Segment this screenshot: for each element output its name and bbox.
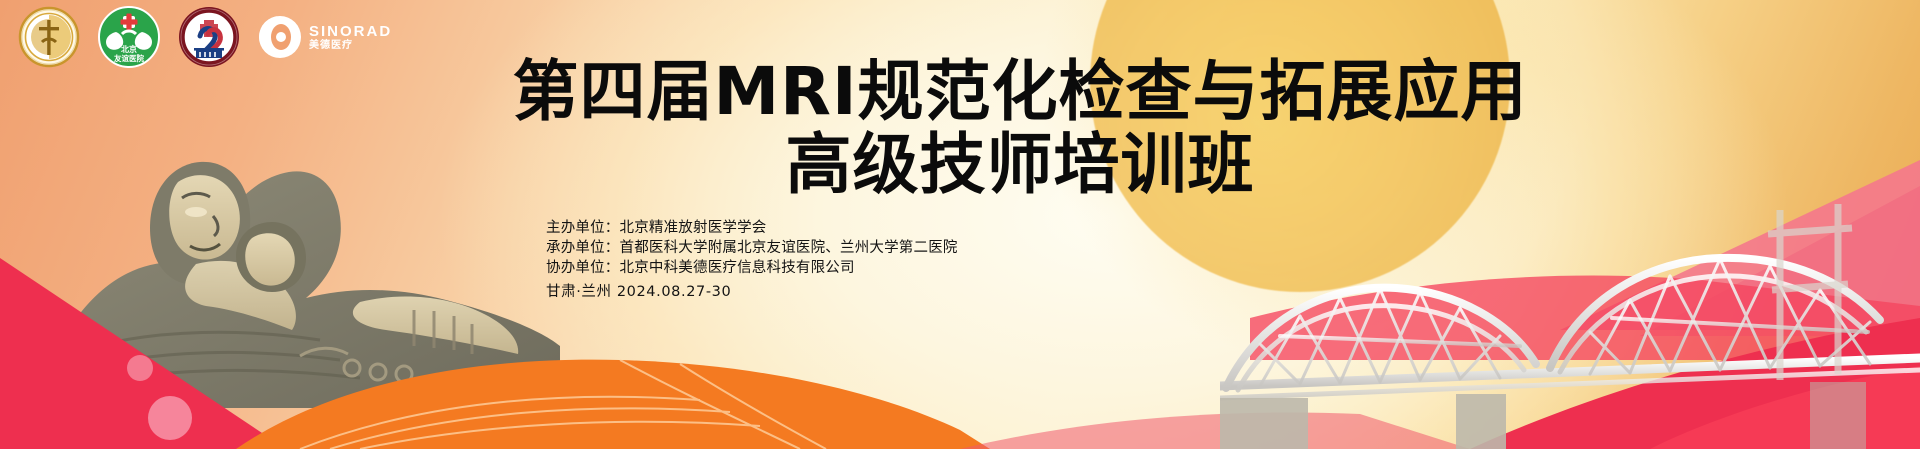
banner-title: 第四届MRI规范化检查与拓展应用 高级技师培训班 bbox=[0, 58, 1920, 199]
coorganizer-line: 协办单位：北京中科美德医疗信息科技有限公司 bbox=[546, 258, 958, 278]
title-line-1: 第四届MRI规范化检查与拓展应用 bbox=[120, 58, 1920, 127]
svg-text:北京: 北京 bbox=[121, 44, 137, 54]
sinorad-chinese-name: 美德医疗 bbox=[309, 40, 392, 52]
sinorad-wordmark: SINORAD bbox=[309, 23, 392, 40]
conference-banner: 北京 友谊医院 bbox=[0, 0, 1920, 449]
organizer-line: 承办单位：首都医科大学附属北京友谊医院、兰州大学第二医院 bbox=[546, 238, 958, 258]
title-line-2: 高级技师培训班 bbox=[120, 131, 1920, 200]
sinorad-logo: SINORAD 美德医疗 bbox=[258, 6, 378, 68]
organization-logos: 北京 友谊医院 bbox=[18, 6, 378, 68]
svg-text:友谊医院: 友谊医院 bbox=[113, 53, 144, 63]
host-organization-line: 主办单位：北京精准放射医学学会 bbox=[546, 218, 958, 238]
beijing-youyi-hospital-logo: 北京 友谊医院 bbox=[98, 6, 160, 68]
gold-seal-logo bbox=[18, 6, 80, 68]
lanzhou-university-second-hospital-logo bbox=[178, 6, 240, 68]
sinorad-eye-icon bbox=[258, 15, 302, 59]
conference-info-block: 主办单位：北京精准放射医学学会 承办单位：首都医科大学附属北京友谊医院、兰州大学… bbox=[546, 218, 958, 302]
venue-date-line: 甘肃·兰州 2024.08.27-30 bbox=[546, 282, 958, 302]
